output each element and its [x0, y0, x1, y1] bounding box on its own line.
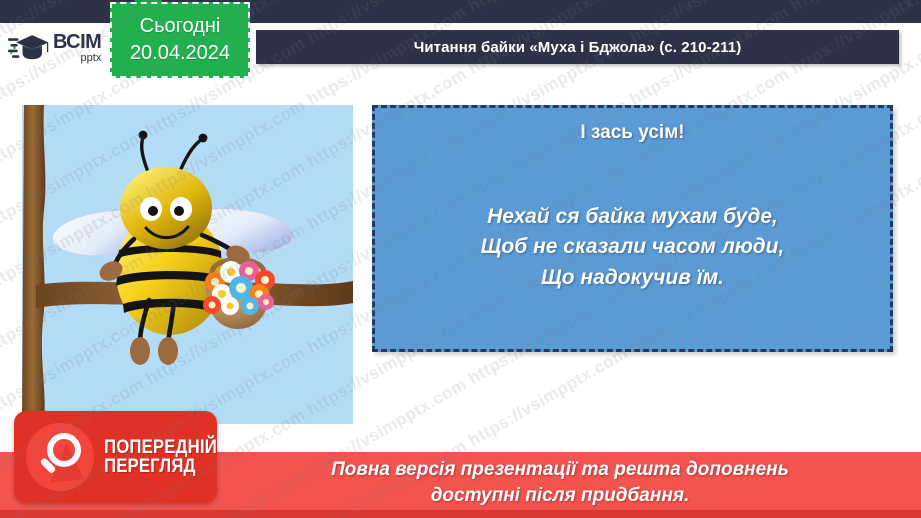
- bee-illustration: [22, 105, 353, 424]
- verse-line-2: Щоб не сказали часом люди,: [375, 232, 890, 262]
- purchase-notice-text: Повна версія презентації та решта доповн…: [240, 457, 880, 508]
- slide-title: Читання байки «Муха і Бджола» (с. 210-21…: [414, 39, 742, 56]
- verse-text-box: І зась усім! Нехай ся байка мухам буде, …: [372, 105, 893, 352]
- magnifier-icon: [26, 423, 94, 491]
- verse-lines: Нехай ся байка мухам буде, Щоб не сказал…: [375, 202, 890, 293]
- banner-bottom-strip: [0, 510, 921, 518]
- preview-badge-label: ПОПЕРЕДНІЙ ПЕРЕГЛЯД: [104, 438, 217, 477]
- verse-line-3: Що надокучив їм.: [375, 263, 890, 293]
- purchase-notice-line-1: Повна версія презентації та решта доповн…: [240, 457, 880, 483]
- today-date-value: 20.04.2024: [130, 41, 230, 66]
- verse-line-1: Нехай ся байка мухам буде,: [375, 202, 890, 232]
- logo-title: ВСІМ: [53, 32, 101, 52]
- today-date-badge: Сьогодні 20.04.2024: [110, 2, 250, 78]
- preview-badge-line-2: ПЕРЕГЛЯД: [104, 457, 217, 476]
- slide-header-bar: Читання байки «Муха і Бджола» (с. 210-21…: [256, 30, 899, 64]
- today-label: Сьогодні: [140, 14, 221, 39]
- brand-logo[interactable]: ВСІМ pptx: [0, 23, 120, 73]
- purchase-notice-line-2: доступні після придбання.: [240, 483, 880, 509]
- presentation-slide: ВСІМ pptx Сьогодні 20.04.2024 Читання ба…: [0, 0, 921, 518]
- verse-heading: І зась усім!: [375, 122, 890, 144]
- graduation-cap-icon: [8, 31, 50, 65]
- preview-badge[interactable]: ПОПЕРЕДНІЙ ПЕРЕГЛЯД: [14, 411, 217, 503]
- logo-subtitle: pptx: [53, 53, 101, 64]
- preview-badge-line-1: ПОПЕРЕДНІЙ: [104, 438, 217, 457]
